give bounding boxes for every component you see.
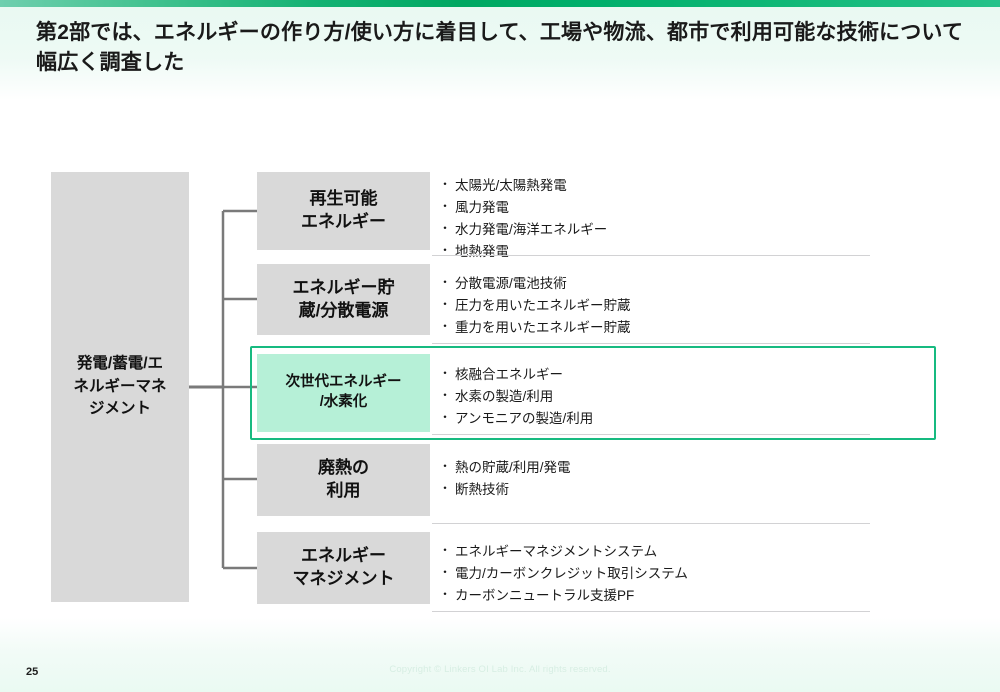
list-item: ・ 核融合エネルギー <box>439 364 939 386</box>
bullet-dot-icon: ・ <box>439 241 455 261</box>
list-item-label: エネルギーマネジメントシステム <box>455 541 939 563</box>
list-item-label: 水素の製造/利用 <box>455 386 939 408</box>
list-item-label: 圧力を用いたエネルギー貯蔵 <box>455 295 939 317</box>
list-item: ・ 太陽光/太陽熱発電 <box>439 175 939 197</box>
list-item: ・ 分散電源/電池技術 <box>439 273 939 295</box>
bullet-dot-icon: ・ <box>439 197 455 217</box>
category-box-3[interactable]: 次世代エネルギー /水素化 <box>257 354 430 432</box>
bullet-dot-icon: ・ <box>439 563 455 583</box>
bullet-dot-icon: ・ <box>439 457 455 477</box>
bullet-dot-icon: ・ <box>439 479 455 499</box>
category-label-1: 再生可能 エネルギー <box>301 188 386 234</box>
list-item-label: 分散電源/電池技術 <box>455 273 939 295</box>
list-item: ・ 電力/カーボンクレジット取引システム <box>439 563 939 585</box>
list-item-label: 核融合エネルギー <box>455 364 939 386</box>
bullet-dot-icon: ・ <box>439 295 455 315</box>
bullet-dot-icon: ・ <box>439 386 455 406</box>
bullet-list-1: ・ 太陽光/太陽熱発電 ・ 風力発電 ・ 水力発電/海洋エネルギー ・ 地熱発電 <box>439 175 939 263</box>
tree-diagram: 発電/蓄電/エ ネルギーマネ ジメント 再生可能 エネルギー ・ 太陽光/太陽熱… <box>0 0 1000 692</box>
bullet-dot-icon: ・ <box>439 219 455 239</box>
category-box-2[interactable]: エネルギー貯 蔵/分散電源 <box>257 264 430 335</box>
list-item-label: 水力発電/海洋エネルギー <box>455 219 939 241</box>
list-item: ・ アンモニアの製造/利用 <box>439 408 939 430</box>
category-label-2: エネルギー貯 蔵/分散電源 <box>293 277 395 323</box>
list-item: ・ カーボンニュートラル支援PF <box>439 585 939 607</box>
row-separator-5 <box>432 611 870 612</box>
category-box-5[interactable]: エネルギー マネジメント <box>257 532 430 604</box>
list-item: ・ 圧力を用いたエネルギー貯蔵 <box>439 295 939 317</box>
list-item-label: 電力/カーボンクレジット取引システム <box>455 563 939 585</box>
list-item-label: 地熱発電 <box>455 241 939 263</box>
list-item: ・ 熱の貯蔵/利用/発電 <box>439 457 939 479</box>
list-item-label: 熱の貯蔵/利用/発電 <box>455 457 939 479</box>
bullet-dot-icon: ・ <box>439 175 455 195</box>
list-item: ・ 断熱技術 <box>439 479 939 501</box>
bullet-dot-icon: ・ <box>439 273 455 293</box>
list-item: ・ 重力を用いたエネルギー貯蔵 <box>439 317 939 339</box>
list-item-label: 重力を用いたエネルギー貯蔵 <box>455 317 939 339</box>
row-separator-1 <box>432 255 870 256</box>
bullet-dot-icon: ・ <box>439 585 455 605</box>
list-item: ・ 風力発電 <box>439 197 939 219</box>
list-item: ・ 水素の製造/利用 <box>439 386 939 408</box>
row-separator-3 <box>432 434 870 435</box>
bullet-list-3: ・ 核融合エネルギー ・ 水素の製造/利用 ・ アンモニアの製造/利用 <box>439 364 939 430</box>
category-label-4: 廃熱の 利用 <box>318 457 369 503</box>
slide-root: 第2部では、エネルギーの作り方/使い方に着目して、工場や物流、都市で利用可能な技… <box>0 0 1000 692</box>
category-label-3: 次世代エネルギー /水素化 <box>286 373 402 412</box>
copyright-notice: Copyright © Linkers OI Lab Inc. All righ… <box>0 664 1000 675</box>
bullet-list-4: ・ 熱の貯蔵/利用/発電 ・ 断熱技術 <box>439 457 939 501</box>
row-separator-4 <box>432 523 870 524</box>
list-item: ・ 地熱発電 <box>439 241 939 263</box>
list-item-label: 太陽光/太陽熱発電 <box>455 175 939 197</box>
list-item-label: カーボンニュートラル支援PF <box>455 585 939 607</box>
list-item: ・ エネルギーマネジメントシステム <box>439 541 939 563</box>
root-node-label: 発電/蓄電/エ ネルギーマネ ジメント <box>73 353 166 420</box>
bullet-dot-icon: ・ <box>439 408 455 428</box>
bullet-dot-icon: ・ <box>439 317 455 337</box>
bullet-list-5: ・ エネルギーマネジメントシステム ・ 電力/カーボンクレジット取引システム ・… <box>439 541 939 607</box>
list-item-label: アンモニアの製造/利用 <box>455 408 939 430</box>
category-box-1[interactable]: 再生可能 エネルギー <box>257 172 430 250</box>
category-label-5: エネルギー マネジメント <box>293 545 395 591</box>
row-separator-2 <box>432 343 870 344</box>
list-item: ・ 水力発電/海洋エネルギー <box>439 219 939 241</box>
root-node[interactable]: 発電/蓄電/エ ネルギーマネ ジメント <box>51 172 189 602</box>
bullet-dot-icon: ・ <box>439 541 455 561</box>
list-item-label: 風力発電 <box>455 197 939 219</box>
bullet-list-2: ・ 分散電源/電池技術 ・ 圧力を用いたエネルギー貯蔵 ・ 重力を用いたエネルギ… <box>439 273 939 339</box>
category-box-4[interactable]: 廃熱の 利用 <box>257 444 430 516</box>
bullet-dot-icon: ・ <box>439 364 455 384</box>
list-item-label: 断熱技術 <box>455 479 939 501</box>
